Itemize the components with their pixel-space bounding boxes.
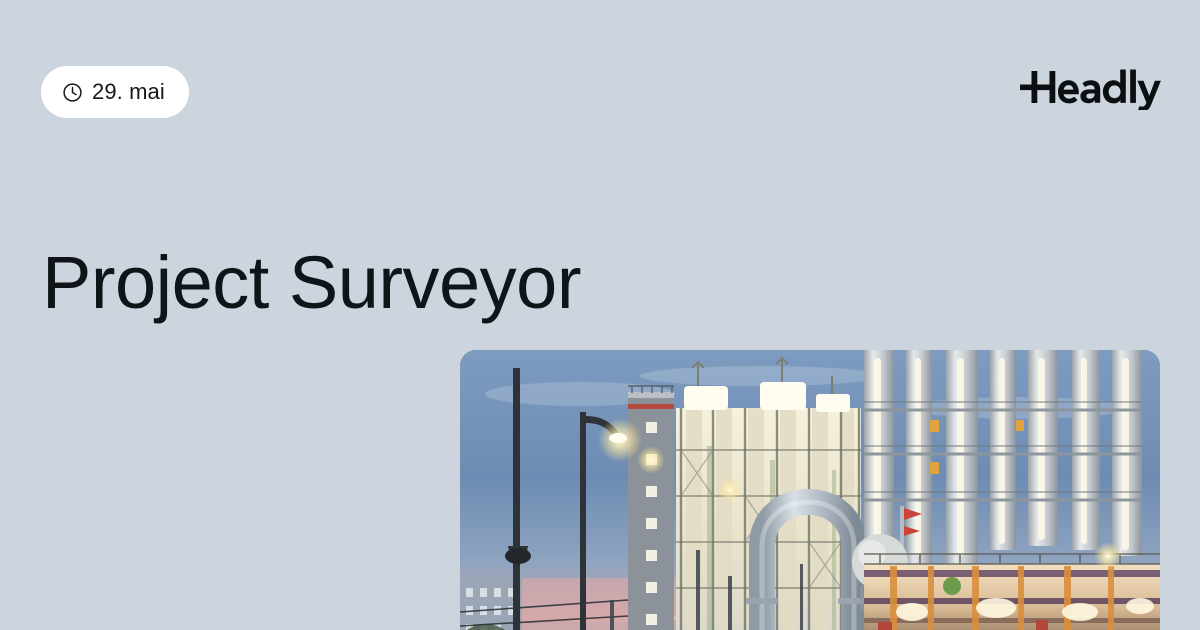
page-title: Project Surveyor <box>42 242 802 323</box>
refinery-illustration-icon <box>460 350 1160 630</box>
social-card: 29. mai Project Surveyor <box>0 0 1200 630</box>
hero-image <box>460 350 1160 630</box>
headly-wordmark-icon <box>1020 64 1162 110</box>
clock-icon <box>62 82 83 103</box>
brand-logo[interactable] <box>1020 64 1162 110</box>
date-label: 29. mai <box>92 81 165 103</box>
date-badge: 29. mai <box>41 66 189 118</box>
